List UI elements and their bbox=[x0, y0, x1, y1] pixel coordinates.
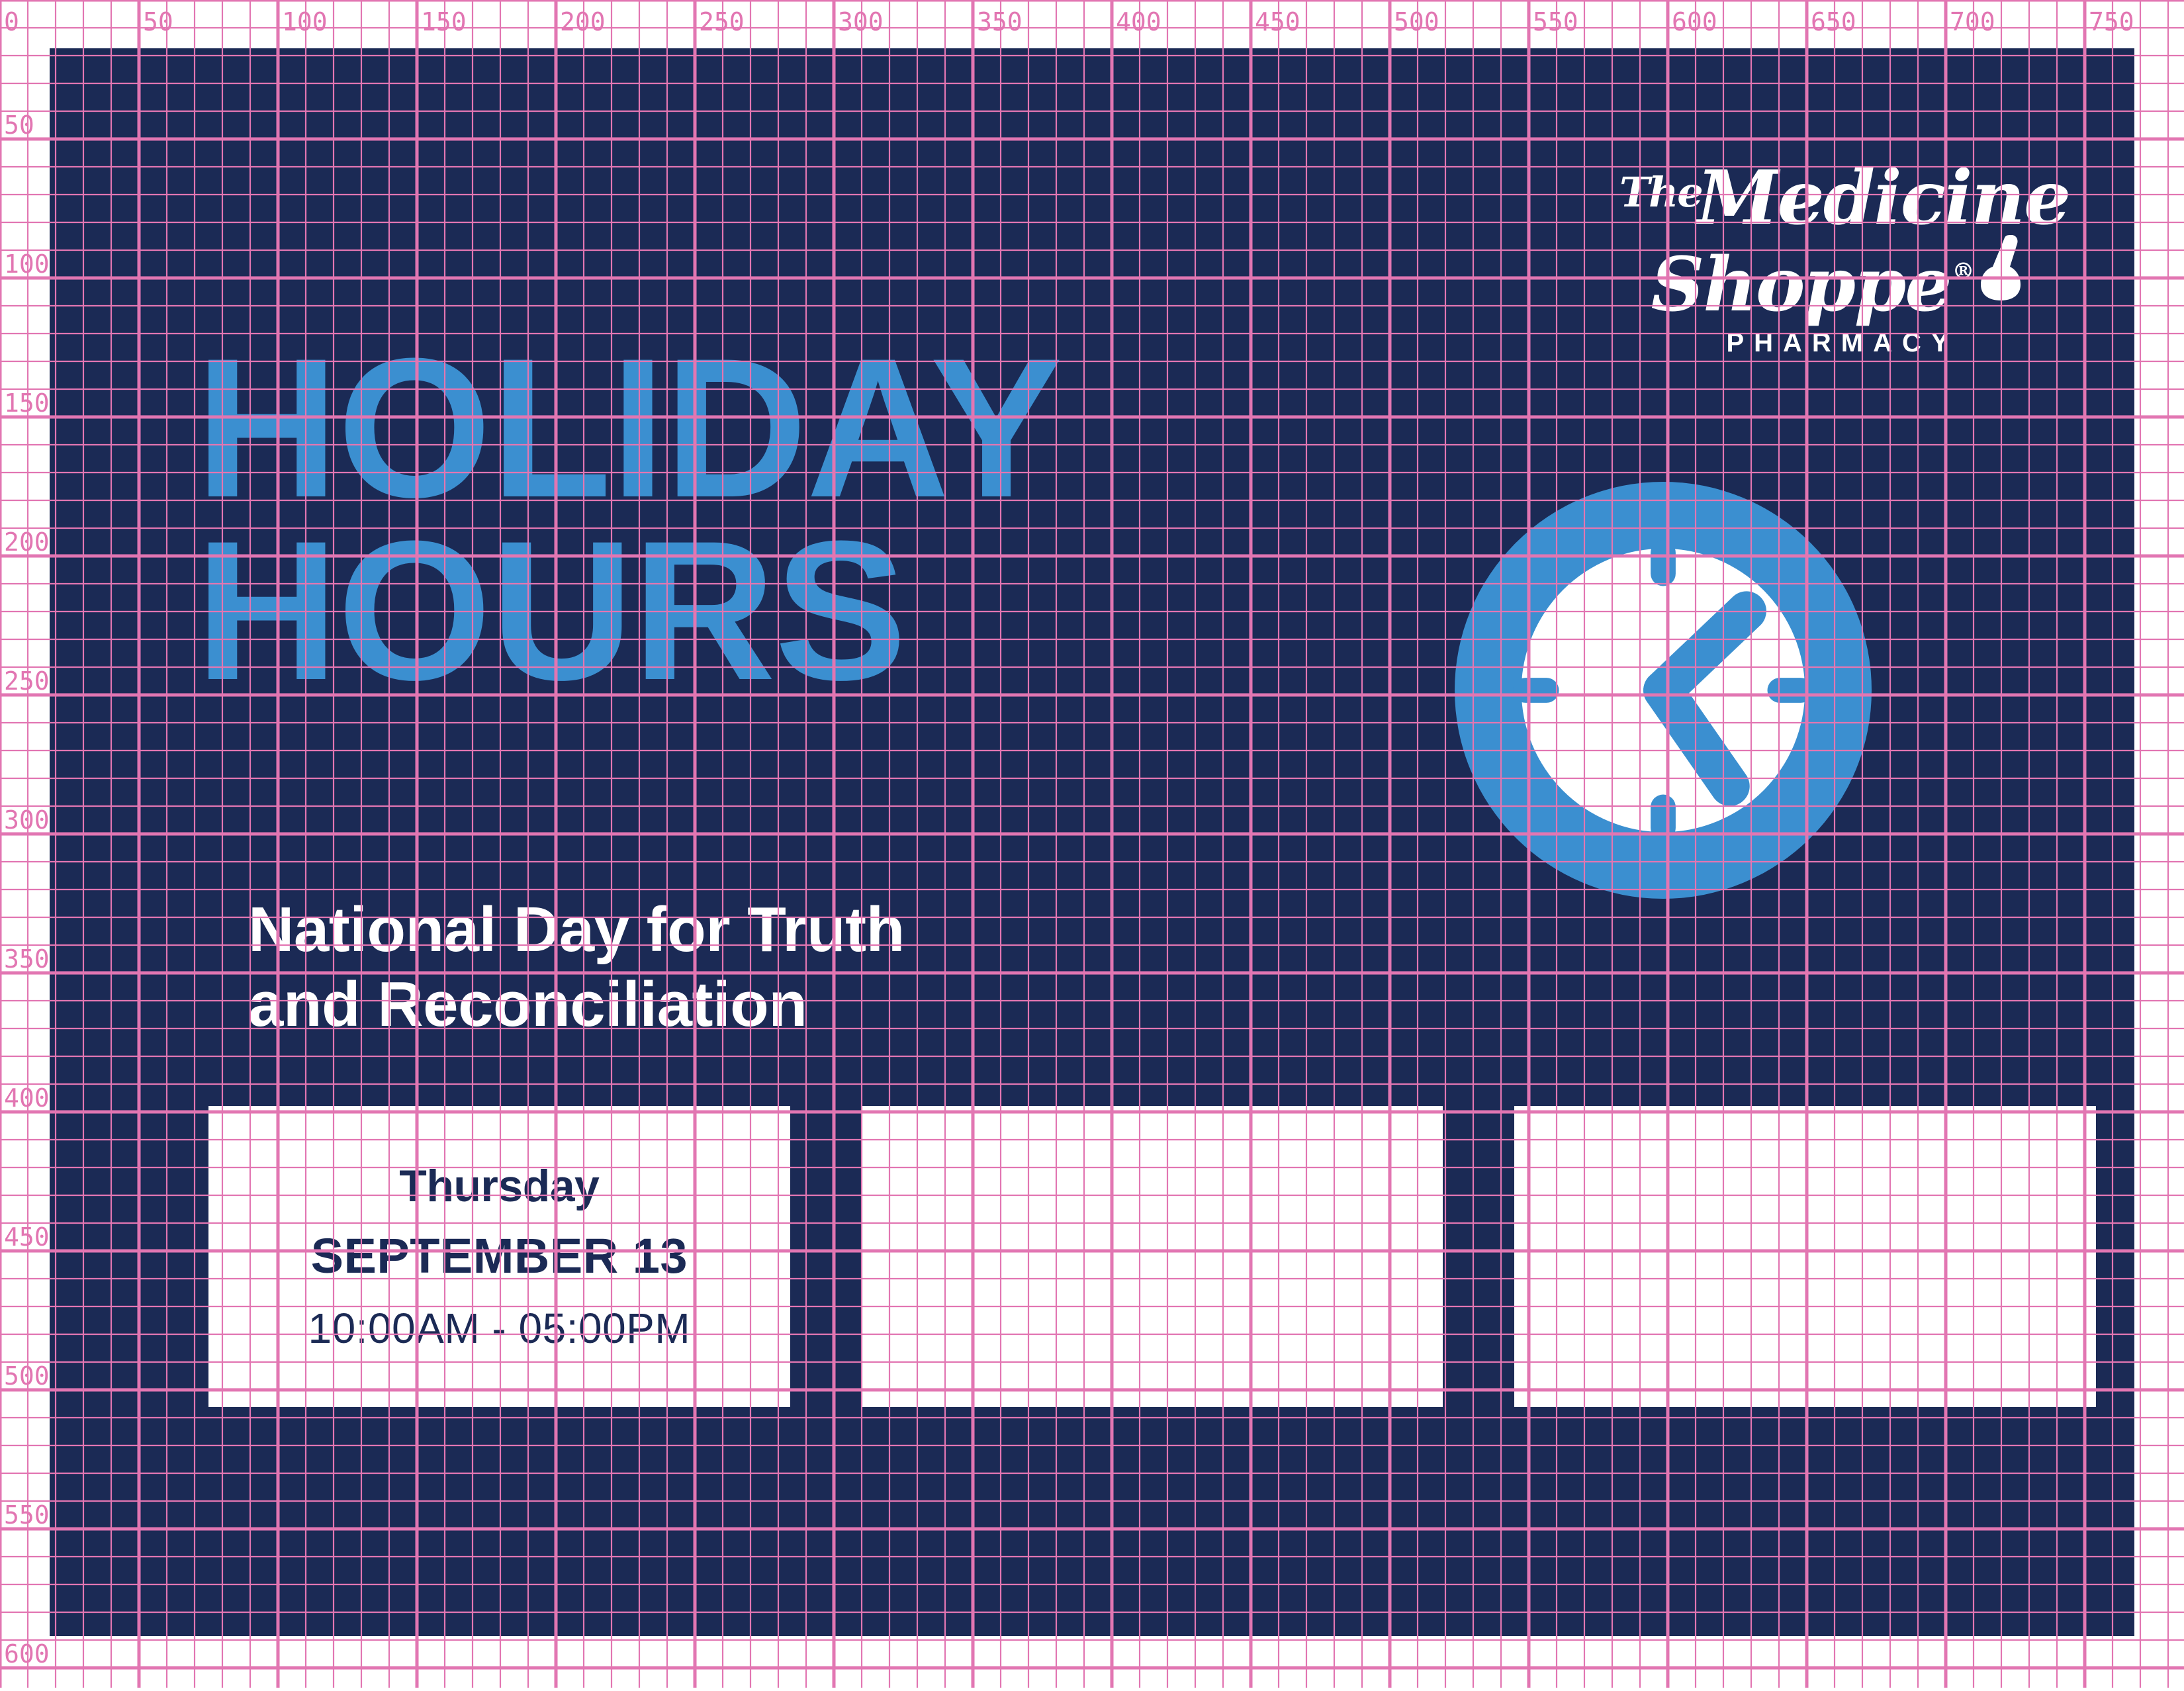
ruler-y-tick-label: 600 bbox=[3, 1641, 50, 1667]
card-date: SEPTEMBER 13 bbox=[311, 1228, 688, 1284]
headline-line-1: HOLIDAY bbox=[195, 336, 1061, 519]
ruler-x-tick-label: 400 bbox=[1112, 9, 1161, 34]
ruler-y-tick-label: 50 bbox=[3, 113, 34, 138]
ruler-y-tick-label: 500 bbox=[3, 1363, 50, 1389]
ruler-x-tick-label: 650 bbox=[1807, 9, 1856, 34]
ruler-y-tick-label: 550 bbox=[3, 1502, 50, 1528]
clock-icon bbox=[1455, 482, 1872, 899]
mortar-and-pestle-icon bbox=[1977, 232, 2025, 304]
hours-card[interactable] bbox=[1514, 1106, 2096, 1407]
ruler-x-tick-label: 50 bbox=[139, 9, 173, 34]
ruler-x-tick-label: 200 bbox=[556, 9, 606, 34]
subtitle-line-2: and Reconciliation bbox=[248, 967, 905, 1042]
ruler-x-tick-label: 450 bbox=[1251, 9, 1300, 34]
logo-tagline: PHARMACY bbox=[1629, 328, 2056, 358]
ruler-y-tick-label: 100 bbox=[3, 251, 50, 277]
ruler-x-tick-label: 700 bbox=[1946, 9, 1995, 34]
ruler-y-tick-label: 400 bbox=[3, 1085, 50, 1111]
card-hours: 10:00AM - 05:00PM bbox=[308, 1304, 690, 1353]
logo-the-text: The bbox=[1619, 168, 1702, 216]
logo-shoppe-text: Shoppe bbox=[1651, 251, 1951, 319]
ruler-x-tick-label: 150 bbox=[417, 9, 467, 34]
ruler-y-tick-label: 350 bbox=[3, 946, 50, 972]
headline-line-2: HOURS bbox=[195, 519, 1061, 702]
ruler-x-tick-label: 300 bbox=[834, 9, 884, 34]
ruler-y-tick-label: 250 bbox=[3, 668, 50, 694]
page-title: HOLIDAY HOURS bbox=[195, 336, 1061, 702]
logo-medicine-text: Medicine bbox=[1697, 155, 2070, 242]
ruler-x-tick-label: 100 bbox=[278, 9, 328, 34]
brand-logo: TheMedicine Shoppe® PHARMACY bbox=[1619, 164, 2056, 358]
card-weekday: Thursday bbox=[399, 1160, 599, 1212]
hours-card[interactable] bbox=[862, 1106, 1443, 1407]
ruler-x-tick-label: 600 bbox=[1668, 9, 1717, 34]
ruler-y-tick-label: 300 bbox=[3, 807, 50, 833]
ruler-y-tick-label: 200 bbox=[3, 529, 50, 555]
ruler-x-tick-label: 0 bbox=[0, 9, 19, 34]
ruler-x-tick-label: 350 bbox=[973, 9, 1023, 34]
logo-script-top: TheMedicine bbox=[1619, 164, 2056, 232]
hours-card[interactable]: Thursday SEPTEMBER 13 10:00AM - 05:00PM bbox=[208, 1106, 790, 1407]
registered-trademark-icon: ® bbox=[1952, 258, 1973, 285]
ruler-x-tick-label: 750 bbox=[2085, 9, 2134, 34]
ruler-x-tick-label: 250 bbox=[695, 9, 745, 34]
page-subtitle: National Day for Truth and Reconciliatio… bbox=[248, 892, 905, 1042]
hours-card-list: Thursday SEPTEMBER 13 10:00AM - 05:00PM bbox=[208, 1106, 2096, 1407]
ruler-x-tick-label: 550 bbox=[1529, 9, 1578, 34]
ruler-y-tick-label: 450 bbox=[3, 1224, 50, 1250]
subtitle-line-1: National Day for Truth bbox=[248, 892, 905, 967]
ruler-y-tick-label: 150 bbox=[3, 390, 50, 416]
ruler-x-tick-label: 500 bbox=[1390, 9, 1439, 34]
poster-canvas: HOLIDAY HOURS National Day for Truth and… bbox=[50, 48, 2134, 1636]
